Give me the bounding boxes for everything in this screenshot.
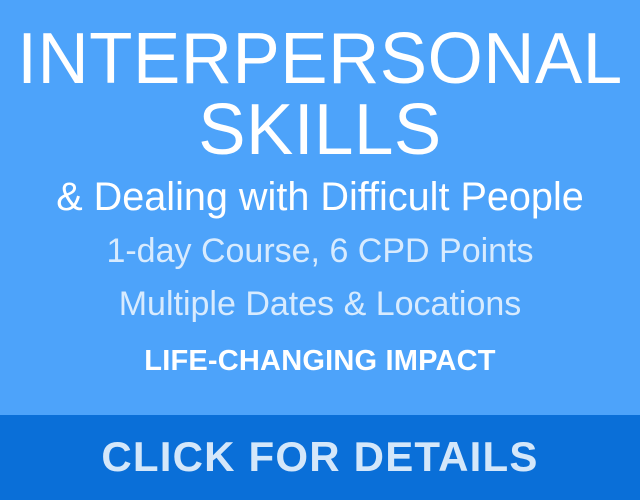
cta-button[interactable]: CLICK FOR DETAILS [0, 415, 640, 500]
detail-line-dates-locations: Multiple Dates & Locations [0, 283, 640, 325]
advertisement-banner[interactable]: INTERPERSONAL SKILLS & Dealing with Diff… [0, 0, 640, 500]
ad-content-area: INTERPERSONAL SKILLS & Dealing with Diff… [0, 0, 640, 415]
cta-label: CLICK FOR DETAILS [101, 433, 538, 481]
detail-line-course-info: 1-day Course, 6 CPD Points [0, 230, 640, 272]
headline-line-1: INTERPERSONAL [5, 22, 635, 97]
headline-line-2: SKILLS [5, 93, 635, 168]
impact-statement: LIFE-CHANGING IMPACT [0, 343, 640, 379]
subheadline: & Dealing with Difficult People [3, 174, 637, 220]
